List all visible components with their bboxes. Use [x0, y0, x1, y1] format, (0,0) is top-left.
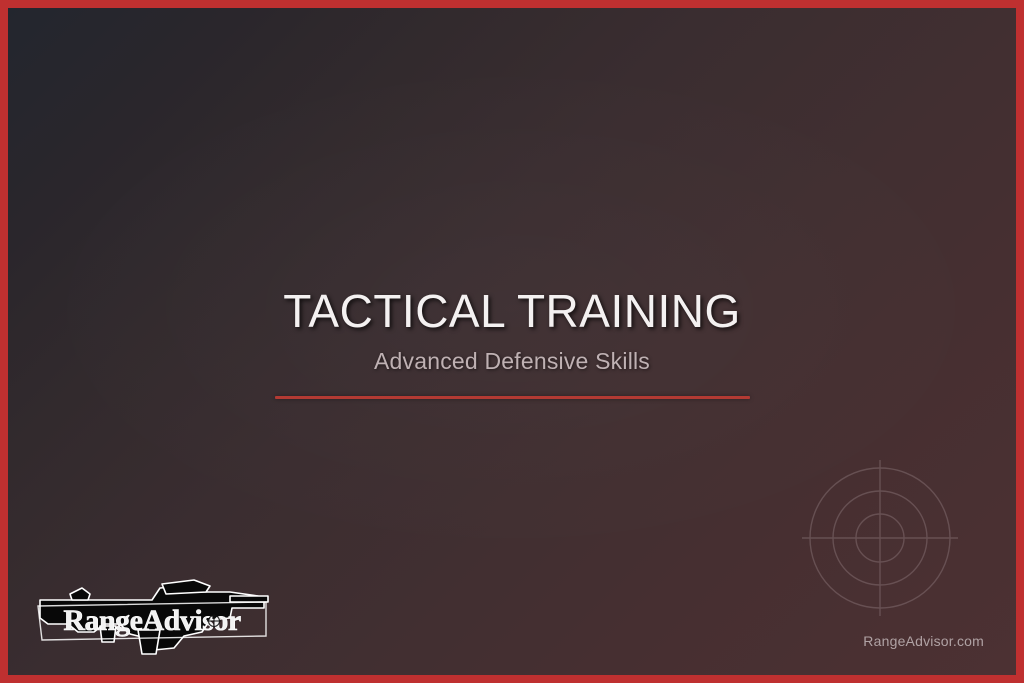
rangeadvisor-rifle-logo: RangeAdvisor [34, 574, 272, 658]
slide-title-block: TACTICAL TRAINING Advanced Defensive Ski… [8, 288, 1016, 399]
presentation-slide: TACTICAL TRAINING Advanced Defensive Ski… [0, 0, 1024, 683]
page-subtitle: Advanced Defensive Skills [8, 334, 1016, 373]
target-crosshair-icon [800, 458, 960, 618]
footer-url: RangeAdvisor.com [863, 633, 984, 649]
title-divider [275, 396, 750, 399]
page-title: TACTICAL TRAINING [8, 288, 1016, 334]
